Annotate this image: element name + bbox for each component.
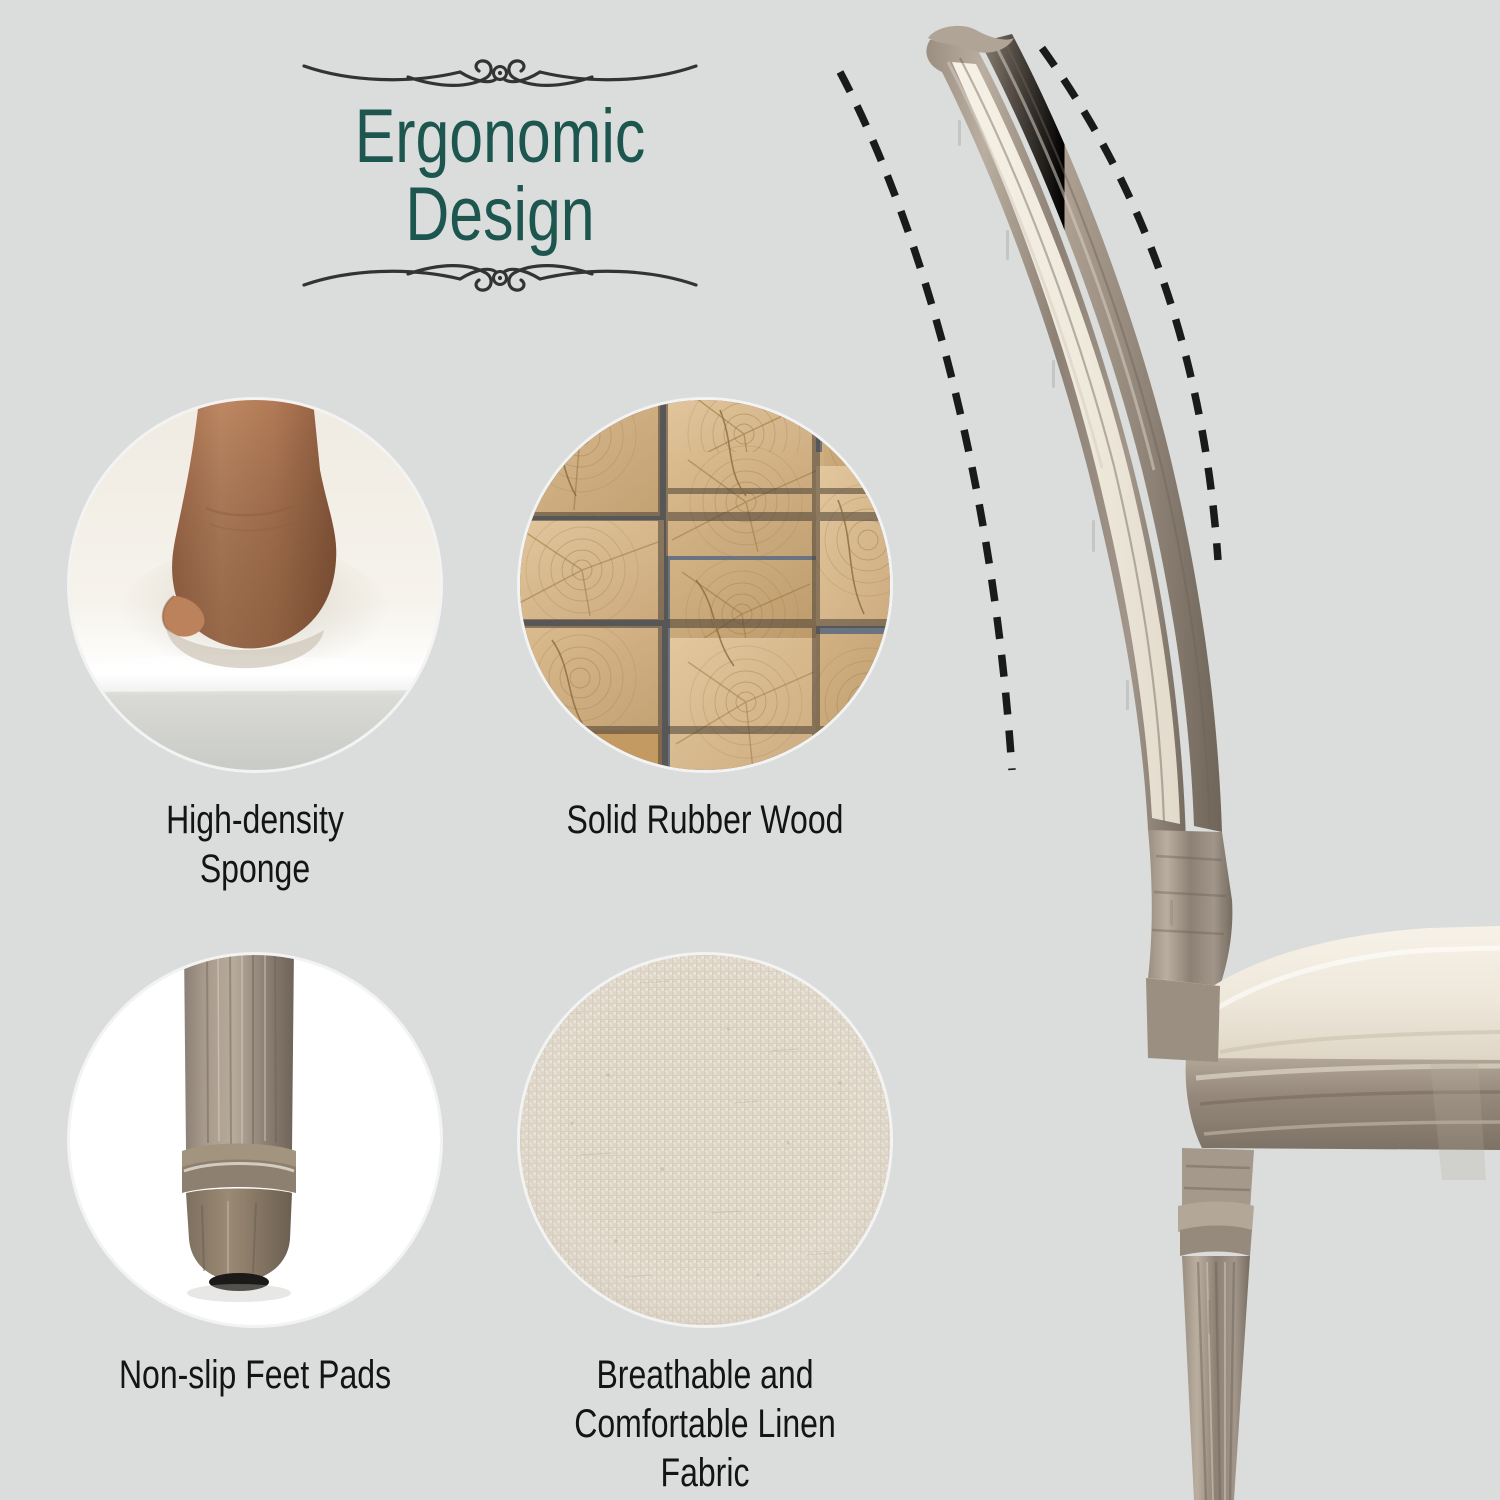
feature-caption: Non-slip Feet Pads <box>107 1351 403 1400</box>
product-infographic: Ergonomic Design <box>0 0 1500 1500</box>
feature-high-density-sponge: High-density Sponge <box>70 400 440 894</box>
flourish-divider-top-icon <box>300 48 700 96</box>
feature-caption: Breathable and Comfortable Linen Fabric <box>557 1351 853 1497</box>
page-title-line-1: Ergonomic <box>300 100 700 174</box>
fist-pressing-foam-photo <box>70 400 440 770</box>
page-title-line-2: Design <box>300 178 700 252</box>
title-block: Ergonomic Design <box>250 48 750 303</box>
feature-caption: Solid Rubber Wood <box>557 796 853 845</box>
feature-non-slip-feet-pads: Non-slip Feet Pads <box>70 955 440 1400</box>
feature-caption: High-density Sponge <box>107 796 403 894</box>
chair-leg-foot-pad-photo <box>70 955 440 1325</box>
flourish-divider-bottom-icon <box>300 255 700 303</box>
dining-chair-side-photo <box>830 0 1500 1500</box>
